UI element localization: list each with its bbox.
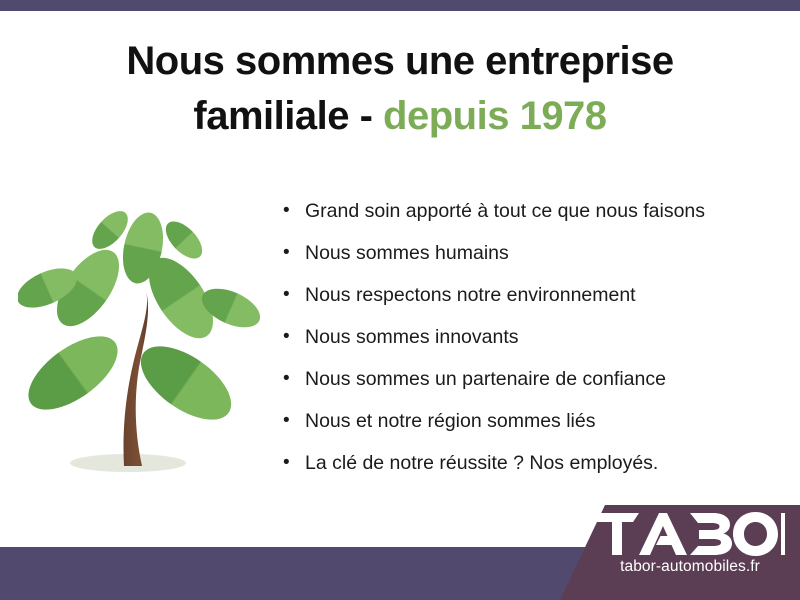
tabor-logo-tagline: tabor-automobiles.fr <box>595 558 785 576</box>
value-list: • Grand soin apporté à tout ce que nous … <box>283 190 783 484</box>
title-line-1: Nous sommes une entreprise <box>0 34 800 89</box>
list-item-label: Nous sommes humains <box>305 232 509 274</box>
bullet-marker-icon: • <box>283 400 305 442</box>
list-item: • La clé de notre réussite ? Nos employé… <box>283 442 783 484</box>
bullet-marker-icon: • <box>283 232 305 274</box>
list-item: • Nous sommes un partenaire de confiance <box>283 358 783 400</box>
list-item-label: Nous et notre région sommes liés <box>305 400 595 442</box>
list-item: • Nous sommes innovants <box>283 316 783 358</box>
bullet-marker-icon: • <box>283 190 305 232</box>
bullet-marker-icon: • <box>283 316 305 358</box>
tree-trunk <box>123 291 148 466</box>
list-item-label: Nous respectons notre environnement <box>305 274 636 316</box>
title-line-2-plain: familiale - <box>193 94 383 138</box>
list-item: • Nous sommes humains <box>283 232 783 274</box>
bullet-marker-icon: • <box>283 358 305 400</box>
tree-illustration <box>18 178 273 483</box>
bullet-marker-icon: • <box>283 442 305 484</box>
list-item-label: La clé de notre réussite ? Nos employés. <box>305 442 658 484</box>
bullet-marker-icon: • <box>283 274 305 316</box>
tree-leaves <box>18 205 266 434</box>
page-title: Nous sommes une entreprise familiale - d… <box>0 34 800 144</box>
list-item-label: Nous sommes un partenaire de confiance <box>305 358 666 400</box>
list-item-label: Nous sommes innovants <box>305 316 519 358</box>
title-accent-year: depuis 1978 <box>383 94 607 138</box>
list-item: • Nous respectons notre environnement <box>283 274 783 316</box>
slide-canvas: Nous sommes une entreprise familiale - d… <box>0 0 800 600</box>
tabor-logo-wordmark <box>595 512 785 556</box>
list-item: • Grand soin apporté à tout ce que nous … <box>283 190 783 232</box>
list-item-label: Grand soin apporté à tout ce que nous fa… <box>305 190 705 232</box>
title-line-2: familiale - depuis 1978 <box>0 89 800 144</box>
list-item: • Nous et notre région sommes liés <box>283 400 783 442</box>
top-accent-band <box>0 0 800 11</box>
